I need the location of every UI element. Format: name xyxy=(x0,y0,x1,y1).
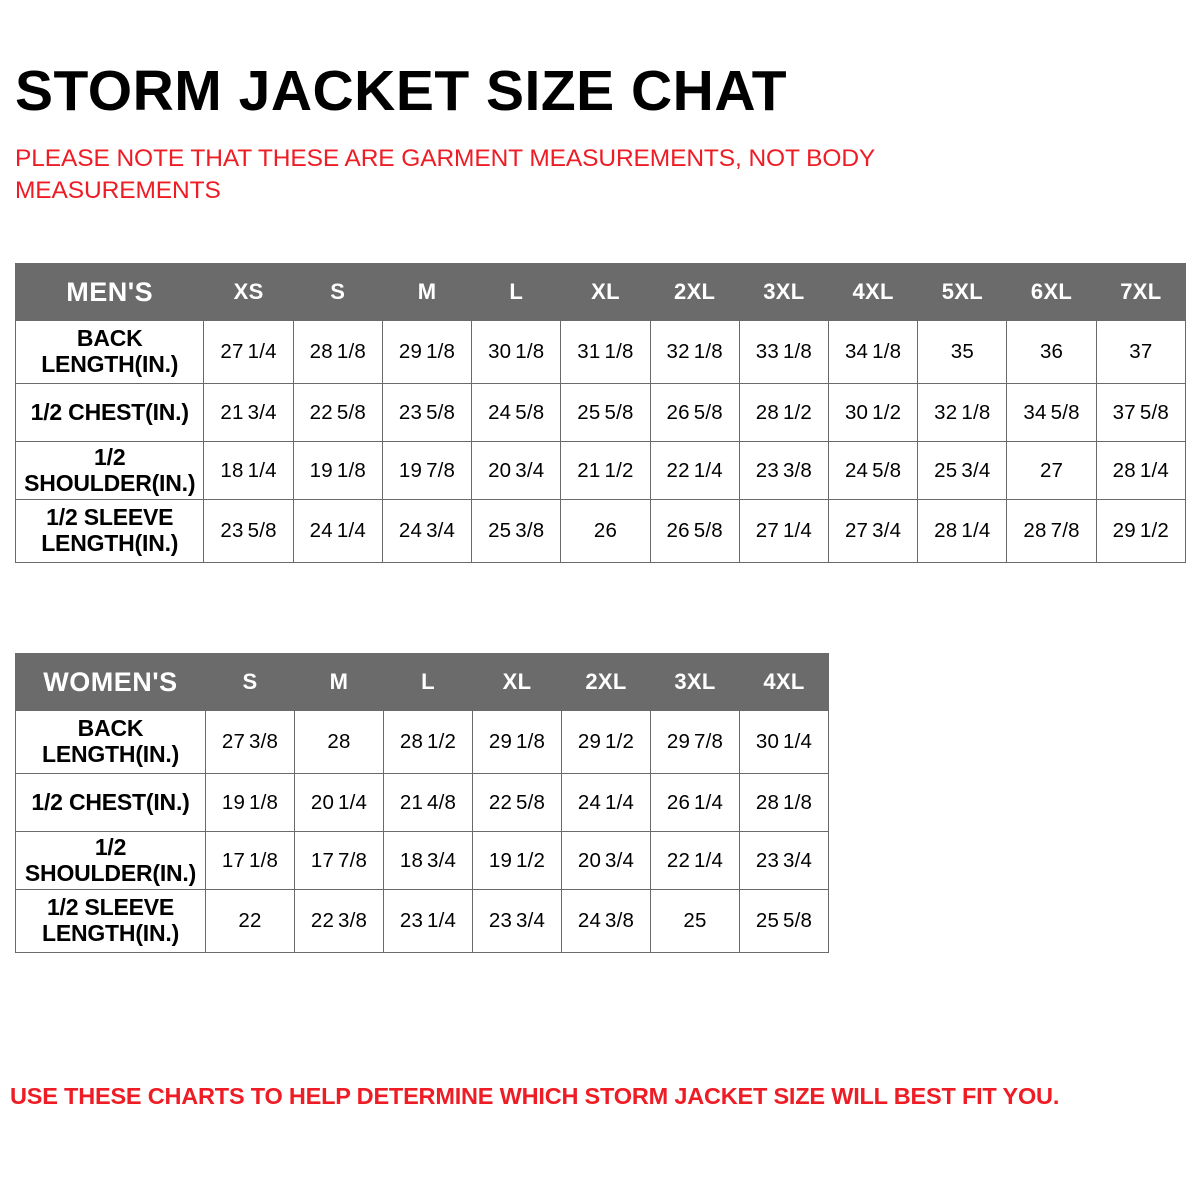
mens-column-header-s: S xyxy=(293,264,382,321)
measurement-cell: 22 xyxy=(206,890,295,953)
womens-table-body: BACKLENGTH(IN.)273/828281/2291/8291/2297… xyxy=(16,711,829,953)
measurement-cell: 281/8 xyxy=(740,774,829,832)
row-label-line: 1/2 SLEEVE xyxy=(47,894,174,920)
table-row: 1/2 SHOULDER(IN.)171/8177/8183/4191/2203… xyxy=(16,832,829,890)
table-row: 1/2 CHEST(IN.)213/4225/8235/8245/8255/82… xyxy=(16,384,1186,442)
measurement-cell: 203/4 xyxy=(562,832,651,890)
measurement-cell: 233/4 xyxy=(473,890,562,953)
measurement-cell: 291/8 xyxy=(382,321,471,384)
row-label-line: BACK xyxy=(77,325,143,351)
measurement-cell: 345/8 xyxy=(1007,384,1096,442)
womens-column-header-3xl: 3XL xyxy=(651,654,740,711)
measurement-cell: 231/4 xyxy=(384,890,473,953)
measurement-cell: 37 xyxy=(1096,321,1185,384)
mens-column-header-xl: XL xyxy=(561,264,650,321)
measurement-cell: 301/4 xyxy=(740,711,829,774)
mens-column-header-3xl: 3XL xyxy=(739,264,828,321)
mens-column-header-7xl: 7XL xyxy=(1096,264,1185,321)
measurement-cell: 291/2 xyxy=(562,711,651,774)
womens-column-header-s: S xyxy=(206,654,295,711)
measurement-cell: 253/8 xyxy=(472,500,561,563)
measurement-cell: 301/2 xyxy=(829,384,918,442)
measurement-cell: 223/8 xyxy=(295,890,384,953)
measurement-cell: 273/8 xyxy=(206,711,295,774)
measurement-cell: 25 xyxy=(651,890,740,953)
womens-column-header-4xl: 4XL xyxy=(740,654,829,711)
measurement-cell: 271/4 xyxy=(739,500,828,563)
measurement-cell: 211/2 xyxy=(561,442,650,500)
womens-header-row: WOMEN'SSMLXL2XL3XL4XL xyxy=(16,654,829,711)
measurement-cell: 171/8 xyxy=(206,832,295,890)
measurement-cell: 28 xyxy=(295,711,384,774)
mens-row-label-1: 1/2 CHEST(IN.) xyxy=(16,384,204,442)
row-label-line: 1/2 SLEEVE xyxy=(46,504,173,530)
measurement-cell: 311/8 xyxy=(561,321,650,384)
mens-column-header-xs: XS xyxy=(204,264,293,321)
page-title: STORM JACKET SIZE CHAT xyxy=(15,62,787,120)
measurement-cell: 221/4 xyxy=(651,832,740,890)
measurement-cell: 281/4 xyxy=(1096,442,1185,500)
row-label-line: 1/2 CHEST(IN.) xyxy=(31,789,189,815)
measurement-cell: 301/8 xyxy=(472,321,561,384)
row-label-line: LENGTH(IN.) xyxy=(41,530,178,556)
measurement-cell: 297/8 xyxy=(651,711,740,774)
measurement-cell: 273/4 xyxy=(829,500,918,563)
measurement-cell: 281/2 xyxy=(739,384,828,442)
womens-column-header-m: M xyxy=(295,654,384,711)
measurement-cell: 221/4 xyxy=(650,442,739,500)
measurement-cell: 255/8 xyxy=(561,384,650,442)
table-row: 1/2 CHEST(IN.)191/8201/4214/8225/8241/42… xyxy=(16,774,829,832)
measurement-cell: 177/8 xyxy=(295,832,384,890)
mens-row-label-3: 1/2 SLEEVELENGTH(IN.) xyxy=(16,500,204,563)
size-chart-page: STORM JACKET SIZE CHAT PLEASE NOTE THAT … xyxy=(0,0,1200,1200)
row-label-line: BACK xyxy=(78,715,144,741)
measurement-cell: 214/8 xyxy=(384,774,473,832)
womens-corner-label: WOMEN'S xyxy=(16,654,206,711)
row-label-line: LENGTH(IN.) xyxy=(41,351,178,377)
mens-row-label-2: 1/2 SHOULDER(IN.) xyxy=(16,442,204,500)
use-charts-note: USE THESE CHARTS TO HELP DETERMINE WHICH… xyxy=(10,1082,1190,1110)
measurement-cell: 235/8 xyxy=(204,500,293,563)
measurement-cell: 375/8 xyxy=(1096,384,1185,442)
measurement-cell: 243/8 xyxy=(562,890,651,953)
measurement-cell: 245/8 xyxy=(829,442,918,500)
measurement-cell: 191/8 xyxy=(293,442,382,500)
measurement-cell: 253/4 xyxy=(918,442,1007,500)
mens-column-header-l: L xyxy=(472,264,561,321)
measurement-cell: 213/4 xyxy=(204,384,293,442)
womens-row-label-2: 1/2 SHOULDER(IN.) xyxy=(16,832,206,890)
measurement-cell: 201/4 xyxy=(295,774,384,832)
measurement-cell: 261/4 xyxy=(651,774,740,832)
womens-table-header: WOMEN'SSMLXL2XL3XL4XL xyxy=(16,654,829,711)
row-label-line: 1/2 SHOULDER(IN.) xyxy=(24,444,195,496)
measurement-cell: 265/8 xyxy=(650,384,739,442)
measurement-cell: 181/4 xyxy=(204,442,293,500)
mens-size-table: MEN'SXSSMLXL2XL3XL4XL5XL6XL7XL BACKLENGT… xyxy=(15,263,1186,563)
measurement-cell: 321/8 xyxy=(918,384,1007,442)
row-label-line: LENGTH(IN.) xyxy=(42,741,179,767)
table-row: 1/2 SHOULDER(IN.)181/4191/8197/8203/4211… xyxy=(16,442,1186,500)
measurement-cell: 243/4 xyxy=(382,500,471,563)
womens-row-label-3: 1/2 SLEEVELENGTH(IN.) xyxy=(16,890,206,953)
measurement-cell: 287/8 xyxy=(1007,500,1096,563)
measurement-cell: 233/4 xyxy=(740,832,829,890)
measurement-cell: 26 xyxy=(561,500,650,563)
mens-row-label-0: BACKLENGTH(IN.) xyxy=(16,321,204,384)
mens-column-header-4xl: 4XL xyxy=(829,264,918,321)
measurement-cell: 27 xyxy=(1007,442,1096,500)
mens-corner-label: MEN'S xyxy=(16,264,204,321)
measurement-cell: 36 xyxy=(1007,321,1096,384)
row-label-line: 1/2 SHOULDER(IN.) xyxy=(25,834,196,886)
measurement-cell: 191/2 xyxy=(473,832,562,890)
womens-column-header-l: L xyxy=(384,654,473,711)
row-label-line: 1/2 CHEST(IN.) xyxy=(31,399,189,425)
mens-column-header-2xl: 2XL xyxy=(650,264,739,321)
measurement-cell: 35 xyxy=(918,321,1007,384)
measurement-cell: 197/8 xyxy=(382,442,471,500)
measurement-cell: 281/4 xyxy=(918,500,1007,563)
mens-table-header: MEN'SXSSMLXL2XL3XL4XL5XL6XL7XL xyxy=(16,264,1186,321)
measurement-cell: 331/8 xyxy=(739,321,828,384)
table-row: BACKLENGTH(IN.)271/4281/8291/8301/8311/8… xyxy=(16,321,1186,384)
measurement-cell: 191/8 xyxy=(206,774,295,832)
measurement-cell: 233/8 xyxy=(739,442,828,500)
measurement-cell: 241/4 xyxy=(293,500,382,563)
garment-measurement-note: PLEASE NOTE THAT THESE ARE GARMENT MEASU… xyxy=(15,143,995,208)
womens-row-label-1: 1/2 CHEST(IN.) xyxy=(16,774,206,832)
mens-column-header-6xl: 6XL xyxy=(1007,264,1096,321)
measurement-cell: 291/8 xyxy=(473,711,562,774)
measurement-cell: 265/8 xyxy=(650,500,739,563)
mens-column-header-m: M xyxy=(382,264,471,321)
row-label-line: LENGTH(IN.) xyxy=(42,920,179,946)
womens-row-label-0: BACKLENGTH(IN.) xyxy=(16,711,206,774)
measurement-cell: 291/2 xyxy=(1096,500,1185,563)
mens-column-header-5xl: 5XL xyxy=(918,264,1007,321)
table-row: 1/2 SLEEVELENGTH(IN.)235/8241/4243/4253/… xyxy=(16,500,1186,563)
measurement-cell: 241/4 xyxy=(562,774,651,832)
womens-column-header-2xl: 2XL xyxy=(562,654,651,711)
measurement-cell: 203/4 xyxy=(472,442,561,500)
measurement-cell: 341/8 xyxy=(829,321,918,384)
measurement-cell: 225/8 xyxy=(473,774,562,832)
mens-header-row: MEN'SXSSMLXL2XL3XL4XL5XL6XL7XL xyxy=(16,264,1186,321)
measurement-cell: 281/2 xyxy=(384,711,473,774)
womens-size-table: WOMEN'SSMLXL2XL3XL4XL BACKLENGTH(IN.)273… xyxy=(15,653,829,953)
measurement-cell: 281/8 xyxy=(293,321,382,384)
measurement-cell: 321/8 xyxy=(650,321,739,384)
measurement-cell: 271/4 xyxy=(204,321,293,384)
mens-table-body: BACKLENGTH(IN.)271/4281/8291/8301/8311/8… xyxy=(16,321,1186,563)
womens-column-header-xl: XL xyxy=(473,654,562,711)
measurement-cell: 245/8 xyxy=(472,384,561,442)
table-row: 1/2 SLEEVELENGTH(IN.)22223/8231/4233/424… xyxy=(16,890,829,953)
measurement-cell: 235/8 xyxy=(382,384,471,442)
measurement-cell: 225/8 xyxy=(293,384,382,442)
measurement-cell: 255/8 xyxy=(740,890,829,953)
measurement-cell: 183/4 xyxy=(384,832,473,890)
table-row: BACKLENGTH(IN.)273/828281/2291/8291/2297… xyxy=(16,711,829,774)
